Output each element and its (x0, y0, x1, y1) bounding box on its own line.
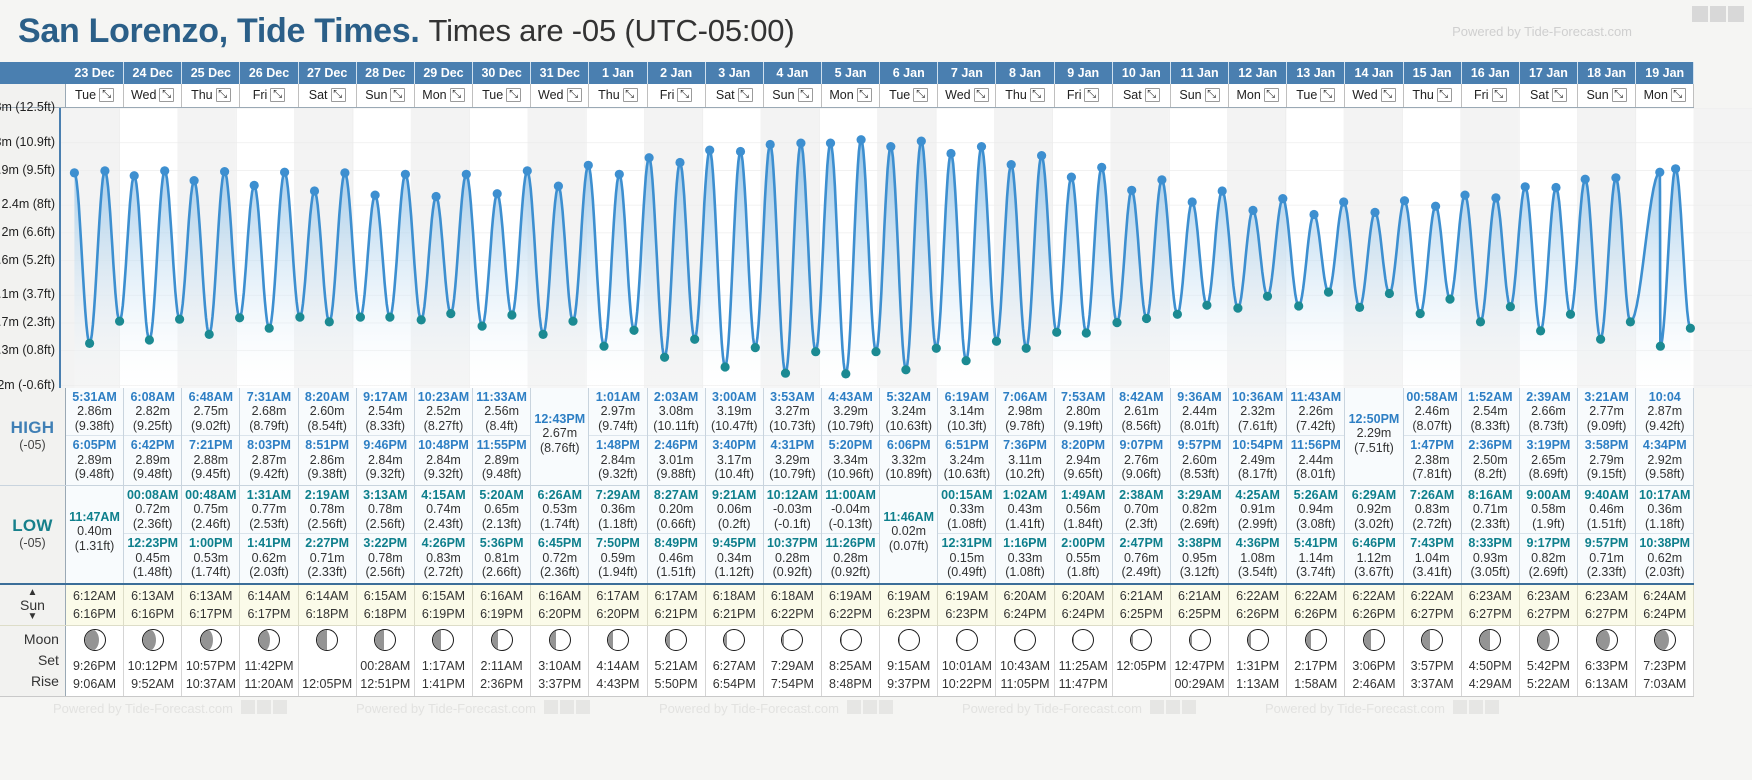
high-tide-cell-2[interactable]: 6:48AM2.75m(9.02ft)7:21PM2.88m(9.45ft) (182, 388, 240, 486)
expand-icon-4[interactable] (331, 88, 346, 102)
high-tide-cell-3[interactable]: 7:31AM2.68m(8.79ft)8:03PM2.87m(9.42ft) (240, 388, 298, 486)
high-tide-height-m: 2.66m (1520, 404, 1577, 419)
high-tide-cell-4[interactable]: 8:20AM2.60m(8.54ft)8:51PM2.86m(9.38ft) (298, 388, 356, 486)
low-tide-entry: 9:00AM0.58m(1.9ft) (1520, 488, 1577, 532)
weekday-cell-20[interactable]: Mon (1229, 84, 1287, 107)
moonset-time: 2:11AM (473, 657, 530, 676)
moon-cell-10: 5:21AM5:50PM (647, 625, 705, 696)
sunrise-time: 6:22AM (1345, 587, 1402, 605)
weekday-cell-23[interactable]: Thu (1403, 84, 1461, 107)
low-tide-cell-24[interactable]: 8:16AM0.71m(2.33ft)8:33PM0.93m(3.05ft) (1461, 485, 1519, 584)
high-tide-cell-14[interactable]: 5:32AM3.24m(10.63ft)6:06PM3.32m(10.89ft) (880, 388, 938, 486)
low-tide-height-ft: (2.69ft) (1520, 565, 1577, 580)
high-tide-entry: 6:05PM2.89m(9.48ft) (66, 435, 123, 482)
low-tide-cell-3[interactable]: 1:31AM0.77m(2.53ft)1:41PM0.62m(2.03ft) (240, 485, 298, 584)
high-tide-entry: 6:06PM3.32m(10.89ft) (880, 435, 937, 482)
low-tide-entry: 9:45PM0.34m(1.12ft) (706, 533, 763, 580)
weekday-cell-9[interactable]: Thu (589, 84, 647, 107)
high-tide-time: 6:48AM (182, 390, 239, 405)
low-tide-height-ft: (2.53ft) (240, 517, 297, 532)
low-tide-time: 12:23PM (124, 536, 181, 551)
weekday-cell-21[interactable]: Tue (1287, 84, 1345, 107)
sunset-time: 6:27PM (1462, 605, 1519, 623)
weekday-cell-22[interactable]: Wed (1345, 84, 1403, 107)
date-header-8[interactable]: 31 Dec (531, 62, 589, 84)
date-header-12[interactable]: 4 Jan (763, 62, 821, 84)
weekday-cell-26[interactable]: Sun (1578, 84, 1636, 107)
low-tide-height-m: 0.76m (1113, 551, 1170, 566)
low-tide-time: 10:38PM (1636, 536, 1693, 551)
sunset-time: 6:17PM (240, 605, 297, 623)
weekday-cell-8[interactable]: Wed (531, 84, 589, 107)
high-tide-cell-10[interactable]: 2:03AM3.08m(10.11ft)2:46PM3.01m(9.88ft) (647, 388, 705, 486)
low-tide-entry: 9:57PM0.71m(2.33ft) (1578, 533, 1635, 580)
sunset-time: 6:26PM (1287, 605, 1344, 623)
sun-cell-12: 6:18AM6:22PM (763, 584, 821, 626)
low-tide-cell-27[interactable]: 10:17AM0.36m(1.18ft)10:38PM0.62m(2.03ft) (1636, 485, 1694, 584)
date-header-24[interactable]: 16 Jan (1461, 62, 1519, 84)
sunrise-time: 6:21AM (1113, 587, 1170, 605)
date-header-6[interactable]: 29 Dec (414, 62, 472, 84)
high-tide-height-m: 2.84m (589, 453, 646, 468)
weekday-cell-6[interactable]: Mon (414, 84, 472, 107)
expand-icon-23[interactable] (1437, 88, 1452, 102)
date-header-18[interactable]: 10 Jan (1112, 62, 1170, 84)
sun-cell-10: 6:17AM6:21PM (647, 584, 705, 626)
high-tide-height-ft: (10.79ft) (822, 419, 879, 434)
low-tide-entry: 4:15AM0.74m(2.43ft) (415, 488, 472, 532)
date-header-10[interactable]: 2 Jan (647, 62, 705, 84)
high-tide-height-ft: (8.01ft) (1287, 467, 1344, 482)
high-tide-height-m: 2.94m (1055, 453, 1112, 468)
date-header-25[interactable]: 17 Jan (1519, 62, 1577, 84)
low-tide-cell-23[interactable]: 7:26AM0.83m(2.72ft)7:43PM1.04m(3.41ft) (1403, 485, 1461, 584)
low-tide-cell-22[interactable]: 6:29AM0.92m(3.02ft)6:46PM1.12m(3.67ft) (1345, 485, 1403, 584)
low-tide-time: 7:50PM (589, 536, 646, 551)
weekday-cell-5[interactable]: Sun (356, 84, 414, 107)
high-tide-height-m: 3.24m (938, 453, 995, 468)
weekday-cell-1[interactable]: Wed (124, 84, 182, 107)
high-tide-entry: 3:40PM3.17m(10.4ft) (706, 435, 763, 482)
high-tide-height-m: 2.50m (1462, 453, 1519, 468)
moon-phase-icon (432, 629, 454, 651)
low-tide-time: 4:15AM (415, 488, 472, 503)
high-tide-entry: 3:58PM2.79m(9.15ft) (1578, 435, 1635, 482)
date-header-16[interactable]: 8 Jan (996, 62, 1054, 84)
sunrise-time: 6:23AM (1520, 587, 1577, 605)
expand-icon-13[interactable] (857, 88, 872, 102)
low-tide-height-m: 0.78m (299, 502, 356, 517)
y-axis-label-7: 0.7m (2.3ft) (0, 315, 55, 329)
low-tide-cell-15[interactable]: 00:15AM0.33m(1.08ft)12:31PM0.15m(0.49ft) (938, 485, 996, 584)
low-tide-cell-18[interactable]: 2:38AM0.70m(2.3ft)2:47PM0.76m(2.49ft) (1112, 485, 1170, 584)
date-header-17[interactable]: 9 Jan (1054, 62, 1112, 84)
low-tide-height-ft: (3.05ft) (1462, 565, 1519, 580)
expand-icon-9[interactable] (623, 88, 638, 102)
date-header-15[interactable]: 7 Jan (938, 62, 996, 84)
sunrise-time: 6:17AM (648, 587, 705, 605)
moonrise-time: 3:37AM (1404, 675, 1461, 694)
weekday-cell-16[interactable]: Thu (996, 84, 1054, 107)
y-axis: 3.8m (12.5ft)3.3m (10.9ft)2.9m (9.5ft)2.… (0, 108, 61, 388)
high-tide-cell-22[interactable]: 12:50PM2.29m(7.51ft) (1345, 388, 1403, 486)
date-header-26[interactable]: 18 Jan (1578, 62, 1636, 84)
high-tide-cell-0[interactable]: 5:31AM2.86m(9.38ft)6:05PM2.89m(9.48ft) (65, 388, 123, 486)
low-tide-time: 4:36PM (1229, 536, 1286, 551)
low-tide-height-m: 0.70m (1113, 502, 1170, 517)
low-tide-height-m: 0.91m (1229, 502, 1286, 517)
low-tide-cell-17[interactable]: 1:49AM0.56m(1.84ft)2:00PM0.55m(1.8ft) (1054, 485, 1112, 584)
high-tide-height-m: 2.60m (1171, 453, 1228, 468)
high-tide-entry: 1:47PM2.38m(7.81ft) (1404, 435, 1461, 482)
date-header-4[interactable]: 27 Dec (298, 62, 356, 84)
expand-icon-7[interactable] (506, 88, 521, 102)
low-tide-cell-6[interactable]: 4:15AM0.74m(2.43ft)4:26PM0.83m(2.72ft) (414, 485, 472, 584)
low-tide-entry: 6:45PM0.72m(2.36ft) (531, 533, 588, 580)
date-header-21[interactable]: 13 Jan (1287, 62, 1345, 84)
sun-row: ▲ Sun ▼ 6:12AM6:16PM6:13AM6:16PM6:13AM6:… (0, 584, 1752, 626)
low-tide-height-ft: (3.12ft) (1171, 565, 1228, 580)
high-tide-cell-17[interactable]: 7:53AM2.80m(9.19ft)8:20PM2.94m(9.65ft) (1054, 388, 1112, 486)
low-tide-cell-12[interactable]: 10:12AM-0.03m(-0.1ft)10:37PM0.28m(0.92ft… (763, 485, 821, 584)
date-header-2[interactable]: 25 Dec (182, 62, 240, 84)
low-tide-cell-1[interactable]: 00:08AM0.72m(2.36ft)12:23PM0.45m(1.48ft) (124, 485, 182, 584)
low-tide-cell-0[interactable]: 11:47AM0.40m(1.31ft) (65, 485, 123, 584)
weekday-cell-0[interactable]: Tue (65, 84, 123, 107)
weekday-cell-18[interactable]: Sat (1112, 84, 1170, 107)
low-tide-entry: 7:29AM0.36m(1.18ft) (589, 488, 646, 532)
expand-icon-8[interactable] (567, 88, 582, 102)
expand-icon-25[interactable] (1552, 88, 1567, 102)
low-tide-cell-4[interactable]: 2:19AM0.78m(2.56ft)2:27PM0.71m(2.33ft) (298, 485, 356, 584)
moon-cell-25: 5:42PM5:22AM (1519, 625, 1577, 696)
date-header-23[interactable]: 15 Jan (1403, 62, 1461, 84)
low-tide-cell-25[interactable]: 9:00AM0.58m(1.9ft)9:17PM0.82m(2.69ft) (1519, 485, 1577, 584)
sunset-time: 6:27PM (1520, 605, 1577, 623)
expand-icon-16[interactable] (1030, 88, 1045, 102)
high-tide-entry: 5:20PM3.34m(10.96ft) (822, 435, 879, 482)
high-tide-cell-24[interactable]: 1:52AM2.54m(8.33ft)2:36PM2.50m(8.2ft) (1461, 388, 1519, 486)
low-tide-cell-10[interactable]: 8:27AM0.20m(0.66ft)8:49PM0.46m(1.51ft) (647, 485, 705, 584)
sunrise-time: 6:22AM (1287, 587, 1344, 605)
high-tide-time: 3:53AM (764, 390, 821, 405)
high-tide-entry: 2:03AM3.08m(10.11ft) (648, 390, 705, 434)
weekday-label-4: Sat (309, 88, 328, 102)
weekday-cell-17[interactable]: Fri (1054, 84, 1112, 107)
sunset-time: 6:21PM (706, 605, 763, 623)
weekday-cell-7[interactable]: Tue (473, 84, 531, 107)
moon-phase-icon (723, 629, 745, 651)
high-tide-time: 11:55PM (473, 438, 530, 453)
high-tide-entry: 7:21PM2.88m(9.45ft) (182, 435, 239, 482)
low-tide-height-m: 0.95m (1171, 551, 1228, 566)
weekday-cell-25[interactable]: Sat (1519, 84, 1577, 107)
low-tide-time: 7:26AM (1404, 488, 1461, 503)
low-tide-time: 1:16PM (996, 536, 1053, 551)
date-header-5[interactable]: 28 Dec (356, 62, 414, 84)
expand-icon-10[interactable] (677, 88, 692, 102)
high-tide-entry: 2:46PM3.01m(9.88ft) (648, 435, 705, 482)
low-tide-time: 3:29AM (1171, 488, 1228, 503)
high-tide-cell-21[interactable]: 11:43AM2.26m(7.42ft)11:56PM2.44m(8.01ft) (1287, 388, 1345, 486)
expand-icon-19[interactable] (1205, 88, 1220, 102)
sunset-time: 6:17PM (182, 605, 239, 623)
weekday-cell-27[interactable]: Mon (1636, 84, 1694, 107)
footer-watermark: Powered by Tide-Forecast.comPowered by T… (0, 697, 1752, 721)
weekday-cell-2[interactable]: Thu (182, 84, 240, 107)
high-tide-entry: 6:42PM2.89m(9.48ft) (124, 435, 181, 482)
sunset-time: 6:23PM (938, 605, 995, 623)
high-tide-time: 3:00AM (706, 390, 763, 405)
high-tide-cell-20[interactable]: 10:36AM2.32m(7.61ft)10:54PM2.49m(8.17ft) (1229, 388, 1287, 486)
high-tide-time: 9:17AM (357, 390, 414, 405)
high-tide-entry: 9:57PM2.60m(8.53ft) (1171, 435, 1228, 482)
expand-icon-14[interactable] (913, 88, 928, 102)
sun-cell-5: 6:15AM6:18PM (356, 584, 414, 626)
date-header-27[interactable]: 19 Jan (1636, 62, 1694, 84)
high-tide-height-ft: (8.4ft) (473, 419, 530, 434)
high-tide-height-ft: (9.48ft) (473, 467, 530, 482)
low-tide-height-m: 0.53m (182, 551, 239, 566)
low-tide-entry: 6:26AM0.53m(1.74ft) (531, 488, 588, 532)
low-tide-height-m: 0.74m (415, 502, 472, 517)
weekday-cell-3[interactable]: Fri (240, 84, 298, 107)
date-header-1[interactable]: 24 Dec (124, 62, 182, 84)
weekday-cell-14[interactable]: Tue (880, 84, 938, 107)
high-tide-cell-15[interactable]: 6:19AM3.14m(10.3ft)6:51PM3.24m(10.63ft) (938, 388, 996, 486)
date-header-table: 23 Dec24 Dec25 Dec26 Dec27 Dec28 Dec29 D… (0, 62, 1752, 108)
low-tide-height-m: 0.81m (473, 551, 530, 566)
low-tide-entry: 10:38PM0.62m(2.03ft) (1636, 533, 1693, 580)
date-header-0[interactable]: 23 Dec (65, 62, 123, 84)
high-tide-height-m: 2.80m (1055, 404, 1112, 419)
high-tide-cell-8[interactable]: 12:43PM2.67m(8.76ft) (531, 388, 589, 486)
high-tide-height-m: 2.26m (1287, 404, 1344, 419)
sun-cell-18: 6:21AM6:25PM (1112, 584, 1170, 626)
high-tide-time: 2:36PM (1462, 438, 1519, 453)
high-tide-cell-13[interactable]: 4:43AM3.29m(10.79ft)5:20PM3.34m(10.96ft) (821, 388, 879, 486)
high-tide-time: 1:48PM (589, 438, 646, 453)
moon-phase-icon (1014, 629, 1036, 651)
low-tide-time: 6:26AM (531, 488, 588, 503)
low-tide-cell-13[interactable]: 11:00AM-0.04m(-0.13ft)11:26PM0.28m(0.92f… (821, 485, 879, 584)
date-header-14[interactable]: 6 Jan (880, 62, 938, 84)
moon-cell-12: 7:29AM7:54PM (763, 625, 821, 696)
high-tide-cell-18[interactable]: 8:42AM2.61m(8.56ft)9:07PM2.76m(9.06ft) (1112, 388, 1170, 486)
expand-icon-24[interactable] (1492, 88, 1507, 102)
low-tide-cell-9[interactable]: 7:29AM0.36m(1.18ft)7:50PM0.59m(1.94ft) (589, 485, 647, 584)
low-tide-height-m: 0.71m (299, 551, 356, 566)
weekday-cell-4[interactable]: Sat (298, 84, 356, 107)
weekday-cell-11[interactable]: Sat (705, 84, 763, 107)
moonrise-label-text: Rise (31, 671, 59, 692)
footer-logo (241, 700, 287, 714)
expand-icon-27[interactable] (1671, 88, 1686, 102)
high-tide-cell-12[interactable]: 3:53AM3.27m(10.73ft)4:31PM3.29m(10.79ft) (763, 388, 821, 486)
high-tide-height-m: 2.86m (299, 453, 356, 468)
expand-icon-17[interactable] (1084, 88, 1099, 102)
low-tide-cell-14[interactable]: 11:46AM0.02m(0.07ft) (880, 485, 938, 584)
low-tide-height-ft: (2.56ft) (357, 565, 414, 580)
date-header-9[interactable]: 1 Jan (589, 62, 647, 84)
low-tide-time: 11:47AM (66, 510, 123, 525)
low-label-tz: (-05) (0, 536, 65, 551)
high-tide-height-ft: (7.42ft) (1287, 419, 1344, 434)
weekday-cell-12[interactable]: Sun (763, 84, 821, 107)
high-tide-time: 6:08AM (124, 390, 181, 405)
high-tide-entry: 8:20AM2.60m(8.54ft) (299, 390, 356, 434)
high-tide-time: 2:46PM (648, 438, 705, 453)
sunset-time: 6:24PM (996, 605, 1053, 623)
high-tide-cell-5[interactable]: 9:17AM2.54m(8.33ft)9:46PM2.84m(9.32ft) (356, 388, 414, 486)
high-tide-entry: 2:36PM2.50m(8.2ft) (1462, 435, 1519, 482)
date-header-3[interactable]: 26 Dec (240, 62, 298, 84)
low-tide-height-ft: (-0.13ft) (822, 517, 879, 532)
low-tide-height-m: 0.15m (938, 551, 995, 566)
expand-icon-21[interactable] (1320, 88, 1335, 102)
expand-icon-12[interactable] (798, 88, 813, 102)
moonrise-time: 1:13AM (1229, 675, 1286, 694)
high-tide-entry: 3:00AM3.19m(10.47ft) (706, 390, 763, 434)
low-tide-cell-21[interactable]: 5:26AM0.94m(3.08ft)5:41PM1.14m(3.74ft) (1287, 485, 1345, 584)
high-tide-height-ft: (10.89ft) (880, 467, 937, 482)
sun-cell-7: 6:16AM6:19PM (473, 584, 531, 626)
high-tide-height-m: 2.77m (1578, 404, 1635, 419)
low-tide-cell-2[interactable]: 00:48AM0.75m(2.46ft)1:00PM0.53m(1.74ft) (182, 485, 240, 584)
low-tide-entry: 00:08AM0.72m(2.36ft) (124, 488, 181, 532)
low-tide-time: 6:29AM (1345, 488, 1402, 503)
low-tide-time: 7:43PM (1404, 536, 1461, 551)
low-tide-cell-8[interactable]: 6:26AM0.53m(1.74ft)6:45PM0.72m(2.36ft) (531, 485, 589, 584)
low-tide-height-ft: (2.33ft) (299, 565, 356, 580)
high-tide-time: 1:47PM (1404, 438, 1461, 453)
high-tide-height-ft: (8.69ft) (1520, 467, 1577, 482)
sunset-time: 6:27PM (1404, 605, 1461, 623)
moonset-time: 3:57PM (1404, 657, 1461, 676)
weekday-cell-13[interactable]: Mon (821, 84, 879, 107)
low-tide-cell-20[interactable]: 4:25AM0.91m(2.99ft)4:36PM1.08m(3.54ft) (1229, 485, 1287, 584)
weekday-cell-15[interactable]: Wed (938, 84, 996, 107)
high-tide-cell-26[interactable]: 3:21AM2.77m(9.09ft)3:58PM2.79m(9.15ft) (1578, 388, 1636, 486)
high-tide-height-m: 2.44m (1287, 453, 1344, 468)
expand-icon-15[interactable] (974, 88, 989, 102)
low-tide-height-ft: (2.72ft) (415, 565, 472, 580)
low-tide-cell-11[interactable]: 9:21AM0.06m(0.2ft)9:45PM0.34m(1.12ft) (705, 485, 763, 584)
moonrise-time: 11:20AM (240, 675, 297, 694)
low-tide-cell-5[interactable]: 3:13AM0.78m(2.56ft)3:22PM0.78m(2.56ft) (356, 485, 414, 584)
weekday-label-15: Wed (945, 88, 970, 102)
high-tide-cell-23[interactable]: 00:58AM2.46m(8.07ft)1:47PM2.38m(7.81ft) (1403, 388, 1461, 486)
low-tide-height-m: 0.45m (124, 551, 181, 566)
expand-icon-6[interactable] (450, 88, 465, 102)
weekday-cell-10[interactable]: Fri (647, 84, 705, 107)
expand-icon-26[interactable] (1612, 88, 1627, 102)
high-tide-cell-7[interactable]: 11:33AM2.56m(8.4ft)11:55PM2.89m(9.48ft) (473, 388, 531, 486)
high-tide-height-ft: (8.56ft) (1113, 419, 1170, 434)
date-header-7[interactable]: 30 Dec (473, 62, 531, 84)
expand-icon-5[interactable] (390, 88, 405, 102)
low-tide-entry: 1:49AM0.56m(1.84ft) (1055, 488, 1112, 532)
high-tide-height-m: 2.52m (415, 404, 472, 419)
low-tide-time: 10:37PM (764, 536, 821, 551)
low-tide-cell-19[interactable]: 3:29AM0.82m(2.69ft)3:38PM0.95m(3.12ft) (1170, 485, 1228, 584)
low-tide-time: 11:00AM (822, 488, 879, 503)
low-tide-height-m: 0.46m (648, 551, 705, 566)
y-axis-label-8: 0.3m (0.8ft) (0, 343, 55, 357)
moonset-label-text: Set (38, 650, 59, 671)
low-tide-height-ft: (2.36ft) (124, 517, 181, 532)
powered-by-top: Powered by Tide-Forecast.com (1452, 24, 1632, 39)
high-tide-cell-6[interactable]: 10:23AM2.52m(8.27ft)10:48PM2.84m(9.32ft) (414, 388, 472, 486)
low-tide-cell-26[interactable]: 9:40AM0.46m(1.51ft)9:57PM0.71m(2.33ft) (1578, 485, 1636, 584)
high-tide-cell-27[interactable]: 10:042.87m(9.42ft)4:34PM2.92m(9.58ft) (1636, 388, 1694, 486)
moon-cell-18: 12:05PM (1112, 625, 1170, 696)
expand-icon-18[interactable] (1145, 88, 1160, 102)
low-tide-height-m: 0.75m (182, 502, 239, 517)
date-header-20[interactable]: 12 Jan (1229, 62, 1287, 84)
sunset-time: 6:26PM (1345, 605, 1402, 623)
moonrise-time: 5:50PM (648, 675, 705, 694)
low-tide-height-ft: (3.02ft) (1345, 517, 1402, 532)
high-tide-height-m: 3.29m (764, 453, 821, 468)
high-tide-time: 2:39AM (1520, 390, 1577, 405)
expand-icon-20[interactable] (1264, 88, 1279, 102)
expand-icon-22[interactable] (1381, 88, 1396, 102)
high-tide-height-ft: (9.32ft) (415, 467, 472, 482)
date-header-19[interactable]: 11 Jan (1170, 62, 1228, 84)
moonset-time: 10:57PM (182, 657, 239, 676)
low-tide-height-ft: (3.67ft) (1345, 565, 1402, 580)
low-tide-height-ft: (1.84ft) (1055, 517, 1112, 532)
expand-icon-11[interactable] (738, 88, 753, 102)
sun-cell-4: 6:14AM6:18PM (298, 584, 356, 626)
high-tide-time: 11:33AM (473, 390, 530, 405)
high-tide-cell-16[interactable]: 7:06AM2.98m(9.78ft)7:36PM3.11m(10.2ft) (996, 388, 1054, 486)
weekday-cell-19[interactable]: Sun (1170, 84, 1228, 107)
weekday-cell-24[interactable]: Fri (1461, 84, 1519, 107)
low-tide-height-m: 1.04m (1404, 551, 1461, 566)
high-tide-cell-19[interactable]: 9:36AM2.44m(8.01ft)9:57PM2.60m(8.53ft) (1170, 388, 1228, 486)
high-tide-cell-25[interactable]: 2:39AM2.66m(8.73ft)3:19PM2.65m(8.69ft) (1519, 388, 1577, 486)
expand-icon-2[interactable] (216, 88, 231, 102)
high-label-tz: (-05) (0, 438, 65, 453)
low-tide-entry: 11:00AM-0.04m(-0.13ft) (822, 488, 879, 532)
expand-icon-3[interactable] (270, 88, 285, 102)
expand-icon-0[interactable] (99, 88, 114, 102)
low-tide-height-ft: (2.69ft) (1171, 517, 1228, 532)
low-tide-time: 2:27PM (299, 536, 356, 551)
sun-cell-19: 6:21AM6:25PM (1170, 584, 1228, 626)
high-tide-entry: 4:31PM3.29m(10.79ft) (764, 435, 821, 482)
low-tide-time: 6:46PM (1345, 536, 1402, 551)
high-tide-cell-11[interactable]: 3:00AM3.19m(10.47ft)3:40PM3.17m(10.4ft) (705, 388, 763, 486)
date-header-11[interactable]: 3 Jan (705, 62, 763, 84)
high-tide-row: HIGH (-05) 5:31AM2.86m(9.38ft)6:05PM2.89… (0, 388, 1752, 486)
low-tide-time: 3:22PM (357, 536, 414, 551)
date-header-13[interactable]: 5 Jan (821, 62, 879, 84)
y-axis-label-2: 2.9m (9.5ft) (0, 163, 55, 177)
low-tide-cell-16[interactable]: 1:02AM0.43m(1.41ft)1:16PM0.33m(1.08ft) (996, 485, 1054, 584)
expand-icon-1[interactable] (159, 88, 174, 102)
moon-phase-icon (1421, 629, 1443, 651)
high-tide-cell-1[interactable]: 6:08AM2.82m(9.25ft)6:42PM2.89m(9.48ft) (124, 388, 182, 486)
low-tide-entry: 9:40AM0.46m(1.51ft) (1578, 488, 1635, 532)
date-header-22[interactable]: 14 Jan (1345, 62, 1403, 84)
low-tide-cell-7[interactable]: 5:20AM0.65m(2.13ft)5:36PM0.81m(2.66ft) (473, 485, 531, 584)
high-tide-cell-9[interactable]: 1:01AM2.97m(9.74ft)1:48PM2.84m(9.32ft) (589, 388, 647, 486)
sun-cell-14: 6:19AM6:23PM (880, 584, 938, 626)
moon-phase-icon (1479, 629, 1501, 651)
